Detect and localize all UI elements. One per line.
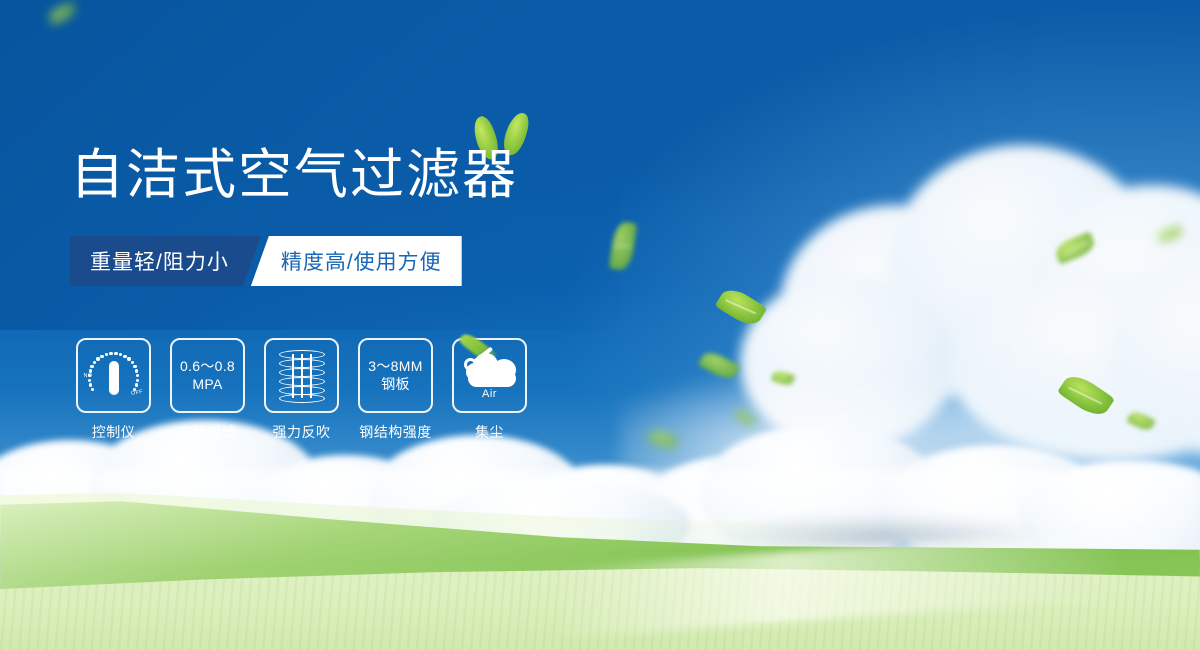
feature-icon-box: NO OFF xyxy=(76,338,151,413)
feature-icon-box xyxy=(264,338,339,413)
feature-item-secondary-filtration: 0.6～0.8MPA 二级过滤 xyxy=(170,338,245,442)
subtitle-badges: 重量轻/阻力小 精度高/使用方便 xyxy=(70,236,462,286)
pressure-text-icon: 0.6～0.8MPA xyxy=(180,358,235,393)
feature-label: 二级过滤 xyxy=(179,422,237,442)
feature-icon-box: 0.6～0.8MPA xyxy=(170,338,245,413)
feature-label: 强力反吹 xyxy=(273,422,331,442)
feature-label: 控制仪 xyxy=(92,422,136,442)
feature-item-backblow: 强力反吹 xyxy=(264,338,339,442)
feature-icon-box: 3～8MM钢板 xyxy=(358,338,433,413)
cloud-air-icon xyxy=(462,351,518,387)
feature-list: NO OFF 控制仪 0.6～0.8MPA 二级过滤 xyxy=(76,338,527,442)
feature-icon-box: Air xyxy=(452,338,527,413)
feature-label: 集尘 xyxy=(475,422,504,442)
spring-coil-icon xyxy=(279,350,325,402)
feature-item-controller: NO OFF 控制仪 xyxy=(76,338,151,442)
feature-item-dust-collection: Air 集尘 xyxy=(452,338,527,442)
promo-banner: 自洁式空气过滤器 重量轻/阻力小 精度高/使用方便 NO OFF 控制仪 0.6… xyxy=(0,0,1200,650)
subtitle-badge-primary: 重量轻/阻力小 xyxy=(70,236,261,286)
page-title: 自洁式空气过滤器 xyxy=(70,148,518,202)
feature-label: 钢结构强度 xyxy=(359,422,432,442)
dial-gauge-icon: NO OFF xyxy=(85,349,143,403)
feature-item-steel-strength: 3～8MM钢板 钢结构强度 xyxy=(358,338,433,442)
steel-plate-text-icon: 3～8MM钢板 xyxy=(368,358,422,393)
cloud-air-label: Air xyxy=(482,388,497,400)
subtitle-badge-secondary: 精度高/使用方便 xyxy=(251,236,462,286)
